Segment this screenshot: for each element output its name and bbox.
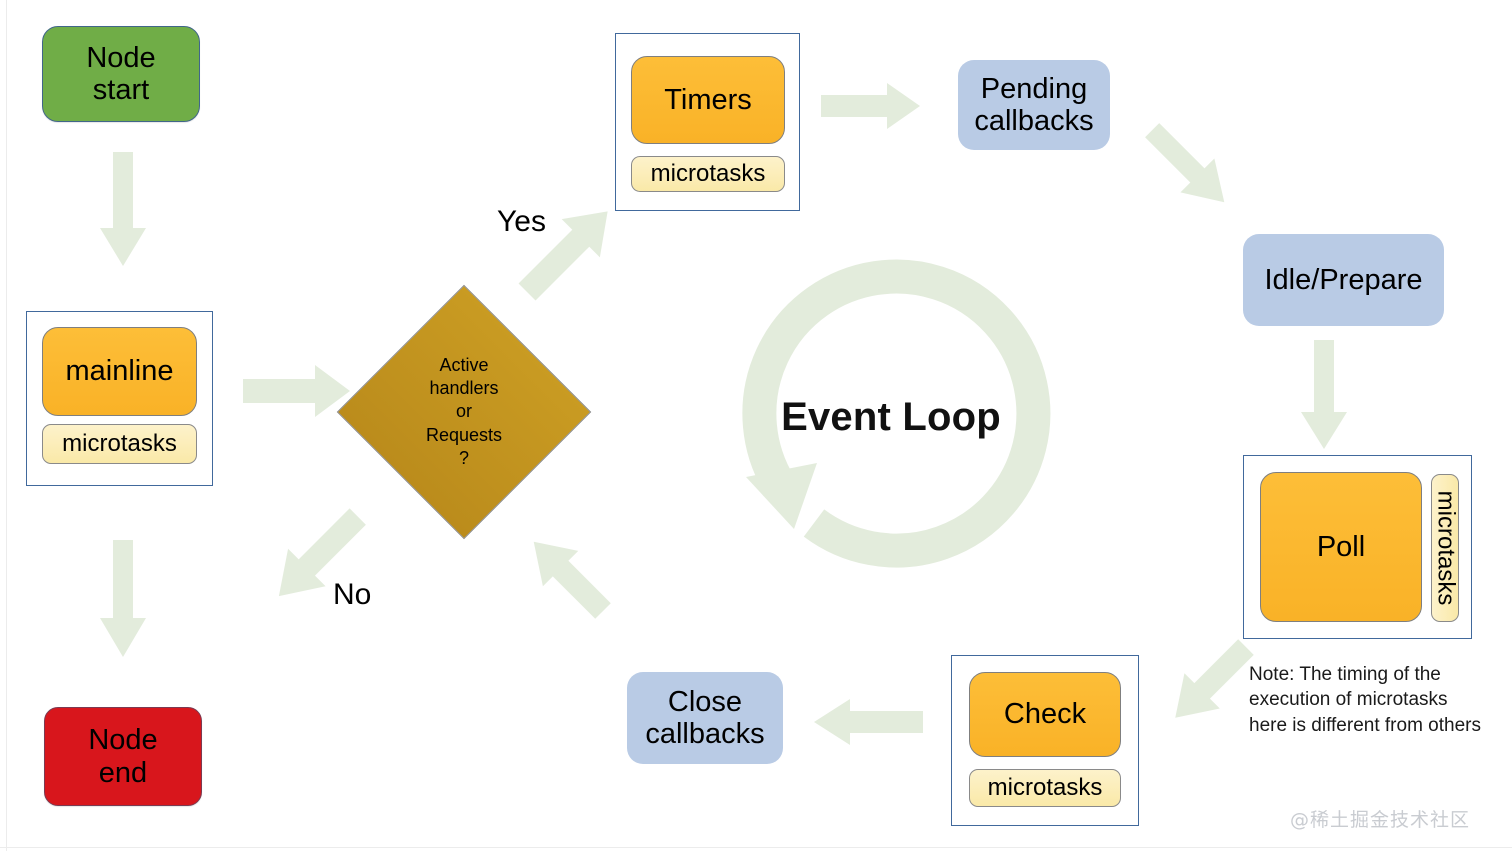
poll-phase-group: Poll microtasks [1243, 455, 1472, 639]
idle-prepare-box[interactable]: Idle/Prepare [1243, 234, 1444, 326]
check-microtasks-box[interactable]: microtasks [969, 769, 1121, 807]
check-phase-group: Check microtasks [951, 655, 1139, 826]
node-end-box[interactable]: Node end [44, 707, 202, 806]
close-callbacks-box[interactable]: Close callbacks [627, 672, 783, 764]
page-edge-bottom [0, 847, 1512, 848]
decision-label: Active handlers or Requests ? [374, 322, 554, 502]
arrow-mainline-to-decision [243, 363, 351, 419]
mainline-box[interactable]: mainline [42, 327, 197, 416]
arrow-mainline-to-node-end [99, 540, 147, 658]
event-loop-ring: Event Loop [716, 255, 1066, 605]
check-box[interactable]: Check [969, 672, 1121, 757]
mainline-microtasks-box[interactable]: microtasks [42, 424, 197, 464]
mainline-phase-group: mainline microtasks [26, 311, 213, 486]
poll-box[interactable]: Poll [1260, 472, 1422, 622]
poll-microtasks-box[interactable]: microtasks [1431, 474, 1459, 622]
arrow-check-to-close [814, 698, 924, 746]
event-loop-diagram: Node start mainline microtasks Node end … [0, 0, 1512, 851]
arrow-decision-to-timers [518, 186, 628, 306]
arrow-start-to-mainline [99, 152, 147, 267]
microtasks-note: Note: The timing of the execution of mic… [1249, 662, 1511, 738]
timers-phase-group: Timers microtasks [615, 33, 800, 211]
arrow-decision-to-no [248, 498, 373, 633]
event-loop-label: Event Loop [716, 395, 1066, 440]
decision-diamond[interactable]: Active handlers or Requests ? [374, 322, 554, 502]
arrow-pending-to-idle [1136, 114, 1256, 234]
page-edge-left [6, 0, 7, 851]
timers-box[interactable]: Timers [631, 56, 785, 144]
arrow-timers-to-pending [821, 82, 921, 130]
arrow-idle-to-poll [1300, 340, 1348, 450]
poll-microtasks-label: microtasks [1431, 491, 1459, 606]
pending-callbacks-box[interactable]: Pending callbacks [958, 60, 1110, 150]
timers-microtasks-box[interactable]: microtasks [631, 156, 785, 192]
arrow-poll-to-check [1133, 628, 1268, 758]
node-start-box[interactable]: Node start [42, 26, 200, 122]
arrow-close-to-loop [500, 505, 625, 635]
watermark: @稀土掘金技术社区 [1290, 805, 1470, 832]
